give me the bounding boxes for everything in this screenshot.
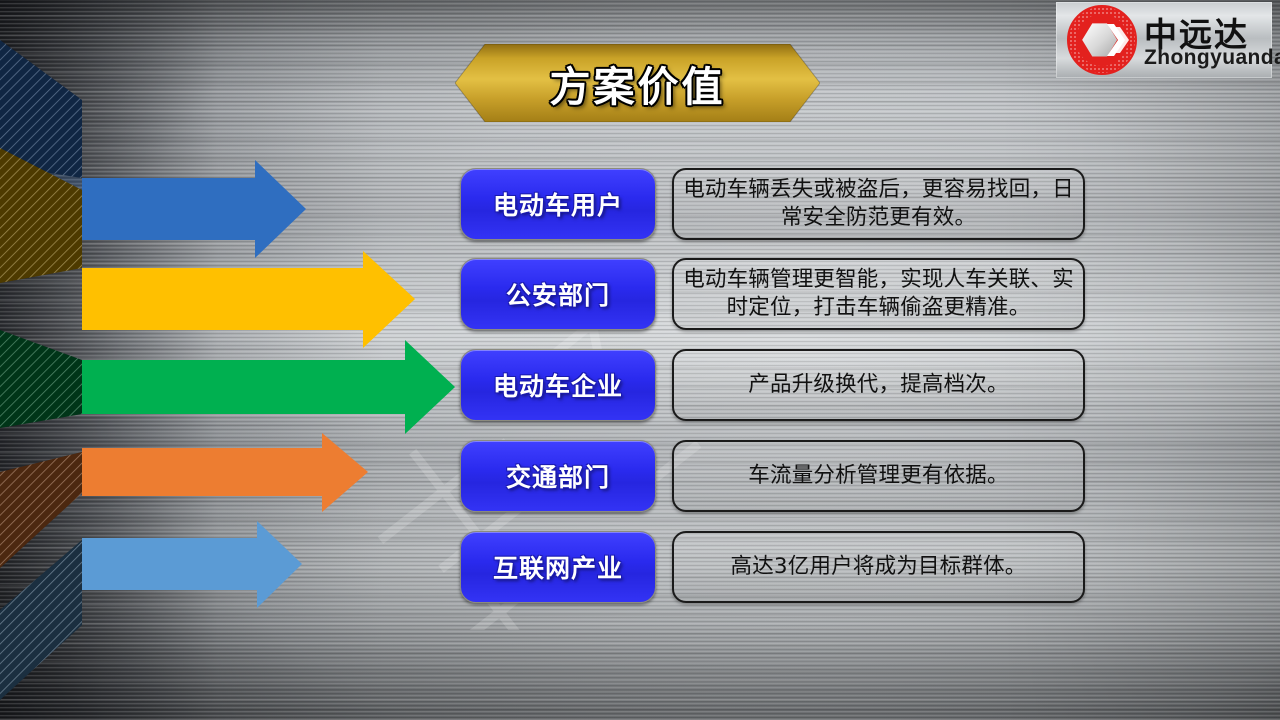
row-description-box: 电动车辆管理更智能，实现人车关联、实时定位，打击车辆偷盗更精准。 — [672, 258, 1085, 330]
row-label-text: 交通部门 — [506, 458, 610, 494]
row-label-chip[interactable]: 电动车企业 — [460, 349, 656, 421]
value-row: 电动车用户 电动车辆丢失或被盗后，更容易找回，日常安全防范更有效。 — [460, 168, 1085, 240]
row-label-chip[interactable]: 电动车用户 — [460, 168, 656, 240]
row-label-text: 互联网产业 — [493, 549, 623, 585]
logo-name-en: Zhongyuanda — [1144, 46, 1280, 70]
row-description-text: 电动车辆丢失或被盗后，更容易找回，日常安全防范更有效。 — [682, 176, 1075, 231]
row-description-text: 产品升级换代，提高档次。 — [748, 371, 1008, 399]
row-label-chip[interactable]: 公安部门 — [460, 258, 656, 330]
row-label-text: 公安部门 — [506, 276, 610, 312]
company-logo: 中远达 Zhongyuanda — [1056, 2, 1272, 78]
title-banner — [455, 44, 820, 122]
row-description-box: 产品升级换代，提高档次。 — [672, 349, 1085, 421]
slide-canvas: 方案价值 电动车用户 电动车辆丢失或被盗后，更容易找回，日常安全防范更有效。 公… — [0, 0, 1280, 720]
row-description-box: 电动车辆丢失或被盗后，更容易找回，日常安全防范更有效。 — [672, 168, 1085, 240]
arrow-group — [0, 0, 520, 720]
arrow-lightblue — [0, 521, 302, 700]
value-row: 公安部门 电动车辆管理更智能，实现人车关联、实时定位，打击车辆偷盗更精准。 — [460, 258, 1085, 330]
chevron-circle-logo-icon — [1066, 4, 1138, 76]
row-label-chip[interactable]: 互联网产业 — [460, 531, 656, 603]
value-row: 互联网产业 高达3亿用户将成为目标群体。 — [460, 531, 1085, 603]
row-description-text: 电动车辆管理更智能，实现人车关联、实时定位，打击车辆偷盗更精准。 — [682, 266, 1075, 321]
row-description-text: 高达3亿用户将成为目标群体。 — [731, 553, 1027, 581]
row-label-text: 电动车用户 — [493, 186, 623, 222]
row-label-chip[interactable]: 交通部门 — [460, 440, 656, 512]
row-label-text: 电动车企业 — [493, 367, 623, 403]
value-row: 电动车企业 产品升级换代，提高档次。 — [460, 349, 1085, 421]
row-description-box: 高达3亿用户将成为目标群体。 — [672, 531, 1085, 603]
row-description-box: 车流量分析管理更有依据。 — [672, 440, 1085, 512]
arrow-green — [0, 330, 455, 434]
value-row: 交通部门 车流量分析管理更有依据。 — [460, 440, 1085, 512]
row-description-text: 车流量分析管理更有依据。 — [748, 462, 1008, 490]
